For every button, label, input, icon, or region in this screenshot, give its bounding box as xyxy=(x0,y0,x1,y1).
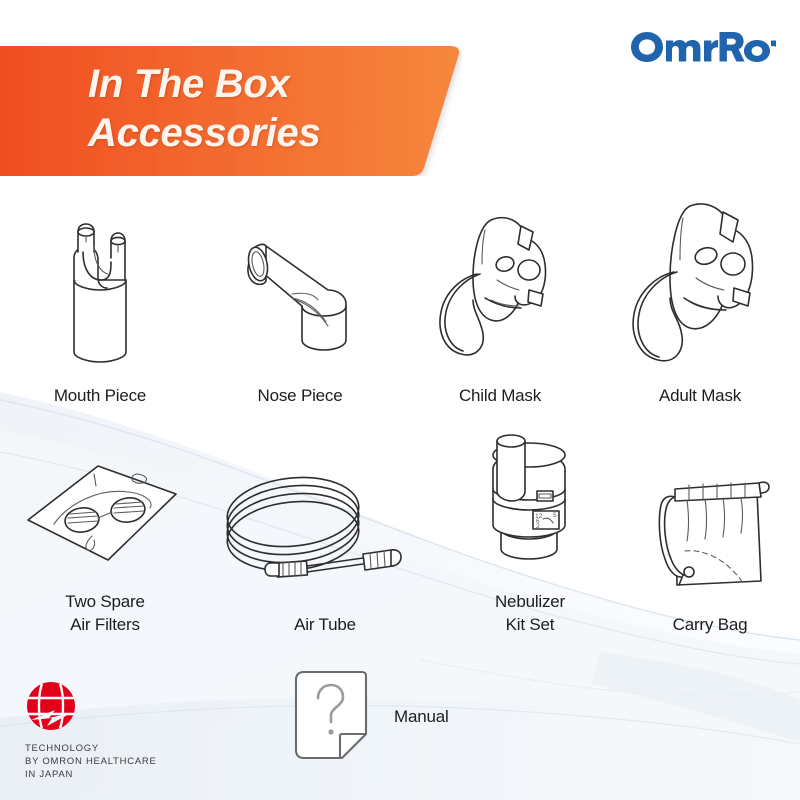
product-cell-child-mask: Child Mask xyxy=(400,208,600,407)
svg-text:5: 5 xyxy=(553,512,557,519)
banner-title-line1: In The Box xyxy=(88,62,289,106)
mouth-piece-icon xyxy=(45,218,155,368)
product-cell-air-filters: Two Spare Air Filters xyxy=(0,438,210,636)
air-filters-icon xyxy=(20,448,190,578)
product-cell-adult-mask: Adult Mask xyxy=(600,208,800,407)
caption-air-tube: Air Tube xyxy=(294,613,356,636)
nose-piece-icon xyxy=(230,218,370,368)
product-row-3: Manual xyxy=(292,668,449,764)
banner-title: In The BoxAccessories xyxy=(88,60,320,158)
caption-manual: Manual xyxy=(394,705,449,728)
mouth-piece-art xyxy=(45,208,155,368)
product-row-1: Mouth Piece Nose Piece xyxy=(0,208,800,407)
product-cell-nebulizer-kit: 12 5 6 2 Nebulizer Kit Set xyxy=(440,438,620,636)
child-mask-icon xyxy=(425,208,575,368)
nebulizer-kit-icon: 12 5 6 2 xyxy=(475,433,585,578)
caption-adult-mask: Adult Mask xyxy=(659,384,741,407)
air-tube-art xyxy=(215,461,435,601)
adult-mask-art xyxy=(620,208,780,368)
caption-nose-piece: Nose Piece xyxy=(258,384,343,407)
caption-carry-bag: Carry Bag xyxy=(673,613,748,636)
product-cell-air-tube: Air Tube xyxy=(210,438,440,636)
air-filters-art xyxy=(20,438,190,578)
infographic-page: In The BoxAccessories xyxy=(0,0,800,800)
nebulizer-kit-art: 12 5 6 2 xyxy=(475,438,585,578)
adult-mask-icon xyxy=(620,198,780,368)
svg-text:2: 2 xyxy=(536,523,540,530)
manual-document-icon xyxy=(292,668,370,764)
product-cell-carry-bag: Carry Bag xyxy=(620,438,800,636)
carry-bag-art xyxy=(645,461,775,601)
product-cell-mouth-piece: Mouth Piece xyxy=(0,208,200,407)
caption-mouth-piece: Mouth Piece xyxy=(54,384,146,407)
japan-globe-icon xyxy=(25,680,77,732)
carry-bag-icon xyxy=(645,471,775,601)
omron-logo xyxy=(630,30,776,64)
japan-badge-text: TECHNOLOGY BY OMRON HEALTHCARE IN JAPAN xyxy=(25,742,157,781)
nose-piece-art xyxy=(230,208,370,368)
child-mask-art xyxy=(425,208,575,368)
banner-title-line2: Accessories xyxy=(88,111,320,155)
air-tube-icon xyxy=(215,466,435,601)
product-row-2: Two Spare Air Filters xyxy=(0,438,800,636)
caption-child-mask: Child Mask xyxy=(459,384,541,407)
caption-nebulizer-kit: Nebulizer Kit Set xyxy=(495,590,565,636)
caption-air-filters: Two Spare Air Filters xyxy=(65,590,144,636)
product-cell-nose-piece: Nose Piece xyxy=(200,208,400,407)
header-banner: In The BoxAccessories xyxy=(0,46,462,176)
